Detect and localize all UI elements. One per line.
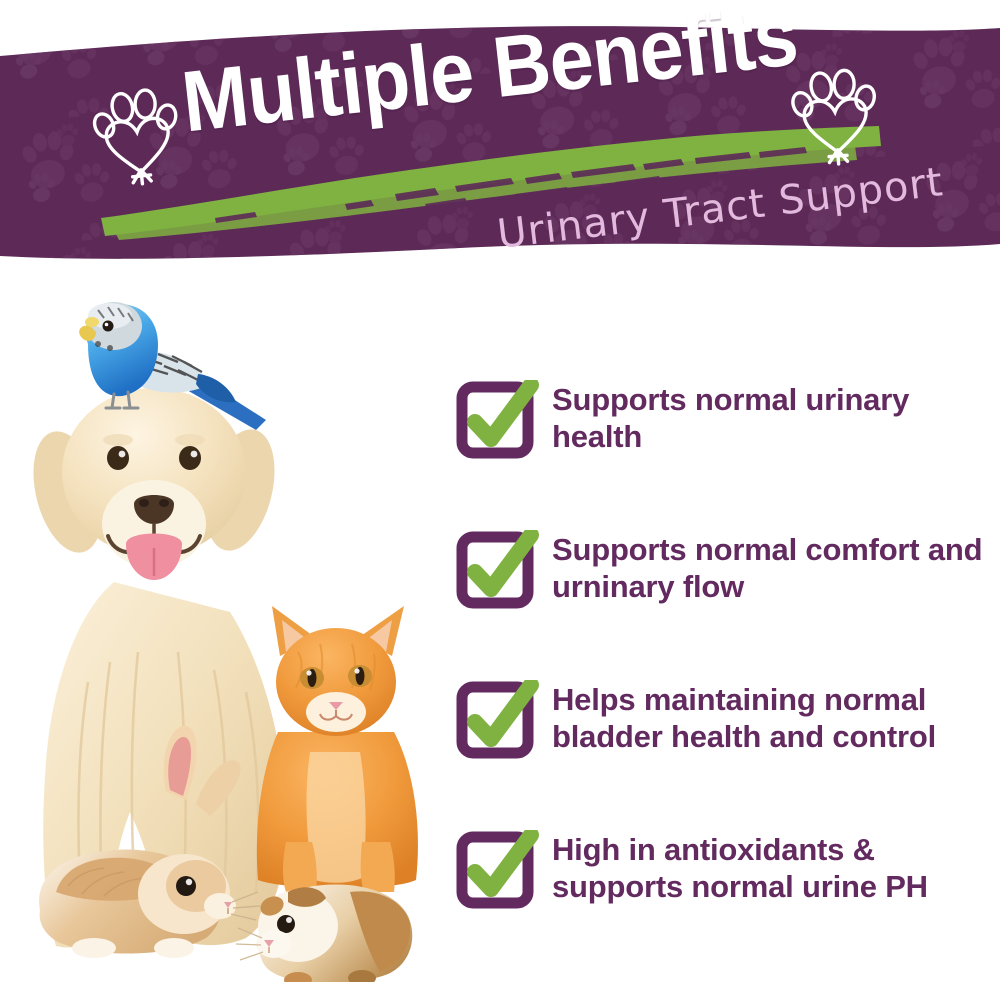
checkbox-checked-icon <box>452 530 540 612</box>
benefit-text: Supports normal comfort and urninary flo… <box>552 528 1000 605</box>
benefit-item: Supports normal urinary health <box>452 378 1000 528</box>
benefit-text: Helps maintaining normal bladder health … <box>552 678 1000 755</box>
cat-icon <box>257 606 418 892</box>
benefit-text: Supports normal urinary health <box>552 378 1000 455</box>
benefit-item: Helps maintaining normal bladder health … <box>452 678 1000 828</box>
benefits-list: Supports normal urinary health Supports … <box>452 378 1000 978</box>
benefit-text: High in antioxidants & supports normal u… <box>552 828 1000 905</box>
pets-photo <box>18 282 448 982</box>
product-benefits-infographic: Multiple Benefits Urinary Tract Support <box>0 0 1000 1000</box>
benefit-item: Supports normal comfort and urninary flo… <box>452 528 1000 678</box>
paw-print-pattern <box>0 0 1000 290</box>
checkbox-checked-icon <box>452 830 540 912</box>
header-banner: Multiple Benefits Urinary Tract Support <box>0 0 1000 290</box>
checkbox-checked-icon <box>452 380 540 462</box>
banner-shape <box>0 0 1000 290</box>
checkbox-checked-icon <box>452 680 540 762</box>
benefit-item: High in antioxidants & supports normal u… <box>452 828 1000 978</box>
